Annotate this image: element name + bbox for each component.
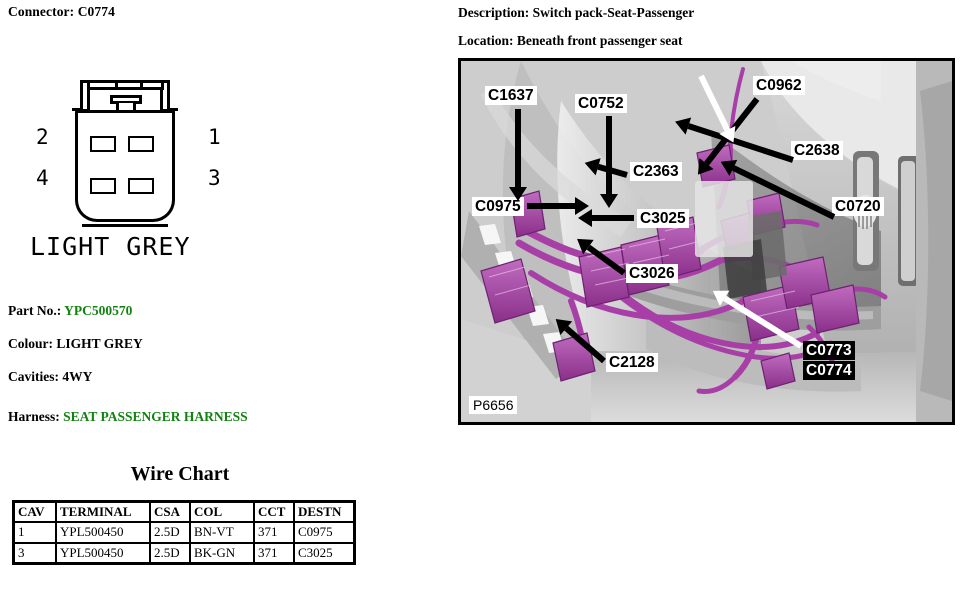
location-photo-panel: C1637 C0752 C0962 C2363 C2638 C0975 C302… xyxy=(458,58,955,425)
connector-base-line-icon xyxy=(82,224,168,227)
callout-c3026: C3026 xyxy=(626,264,678,283)
connector-face-drawing xyxy=(63,78,188,238)
cell-cct: 371 xyxy=(254,543,294,564)
cell-terminal: YPL500450 xyxy=(56,522,150,542)
cell-csa: 2.5D xyxy=(150,522,190,542)
callout-c3025: C3025 xyxy=(637,209,689,228)
callout-c1637: C1637 xyxy=(485,86,537,105)
photo-reference-tag: P6656 xyxy=(469,396,517,414)
connector-body-icon xyxy=(75,110,175,222)
table-row: 3 YPL500450 2.5D BK-GN 371 C3025 xyxy=(14,543,355,564)
cell-csa: 2.5D xyxy=(150,543,190,564)
description-value: Switch pack-Seat-Passenger xyxy=(533,5,695,20)
location-label: Location: xyxy=(458,33,517,48)
description-label: Description: xyxy=(458,5,533,20)
callout-c0773: C0773 xyxy=(803,341,855,360)
callout-c0962: C0962 xyxy=(753,76,805,95)
cell-cct: 371 xyxy=(254,522,294,542)
callout-c2128: C2128 xyxy=(606,353,658,372)
spec-part-number: Part No.: YPC500570 xyxy=(8,303,132,319)
cell-cav: 3 xyxy=(14,543,57,564)
callout-c0720: C0720 xyxy=(832,197,884,216)
cavity-4 xyxy=(90,178,116,194)
pin-number-2: 2 xyxy=(36,127,49,148)
spec-harness-label: Harness: xyxy=(8,409,63,424)
callout-c0752: C0752 xyxy=(575,94,627,113)
column-header-cav: CAV xyxy=(14,502,57,523)
wire-chart-title: Wire Chart xyxy=(0,463,360,486)
cell-col: BK-GN xyxy=(190,543,254,564)
description-line: Description: Switch pack-Seat-Passenger xyxy=(458,5,694,21)
spec-colour: Colour: LIGHT GREY xyxy=(8,336,143,352)
wire-chart-table: CAV TERMINAL CSA COL CCT DESTN 1 YPL5004… xyxy=(12,500,356,565)
spec-cavities-label: Cavities: xyxy=(8,369,62,384)
pin-number-1: 1 xyxy=(208,127,221,148)
table-header-row: CAV TERMINAL CSA COL CCT DESTN xyxy=(14,502,355,523)
cell-destn: C3025 xyxy=(294,543,355,564)
cavity-2 xyxy=(90,136,116,152)
spec-cavities: Cavities: 4WY xyxy=(8,369,92,385)
spec-harness: Harness: SEAT PASSENGER HARNESS xyxy=(8,409,248,425)
pin-number-3: 3 xyxy=(208,168,221,189)
cavity-3 xyxy=(128,178,154,194)
cell-destn: C0975 xyxy=(294,522,355,542)
spec-part-label: Part No.: xyxy=(8,303,64,318)
pin-number-4: 4 xyxy=(36,168,49,189)
cell-terminal: YPL500450 xyxy=(56,543,150,564)
spec-harness-value: SEAT PASSENGER HARNESS xyxy=(63,409,248,424)
column-header-csa: CSA xyxy=(150,502,190,523)
callout-c2638: C2638 xyxy=(791,141,843,160)
spec-colour-value: LIGHT GREY xyxy=(56,336,142,351)
connector-heading: Connector: C0774 xyxy=(8,4,115,20)
callout-c2363: C2363 xyxy=(630,162,682,181)
location-line: Location: Beneath front passenger seat xyxy=(458,33,683,49)
cell-col: BN-VT xyxy=(190,522,254,542)
latch-bar-icon xyxy=(87,80,164,90)
spec-cavities-value: 4WY xyxy=(62,369,92,384)
cavity-1 xyxy=(128,136,154,152)
column-header-terminal: TERMINAL xyxy=(56,502,150,523)
spec-part-value: YPC500570 xyxy=(64,303,132,318)
spec-colour-label: Colour: xyxy=(8,336,56,351)
callout-c0774: C0774 xyxy=(803,361,855,380)
column-header-col: COL xyxy=(190,502,254,523)
table-row: 1 YPL500450 2.5D BN-VT 371 C0975 xyxy=(14,522,355,542)
seat-underside-photo xyxy=(461,61,952,422)
column-header-destn: DESTN xyxy=(294,502,355,523)
cell-cav: 1 xyxy=(14,522,57,542)
connector-colour-caption: LIGHT GREY xyxy=(30,232,191,261)
location-value: Beneath front passenger seat xyxy=(517,33,683,48)
column-header-cct: CCT xyxy=(254,502,294,523)
